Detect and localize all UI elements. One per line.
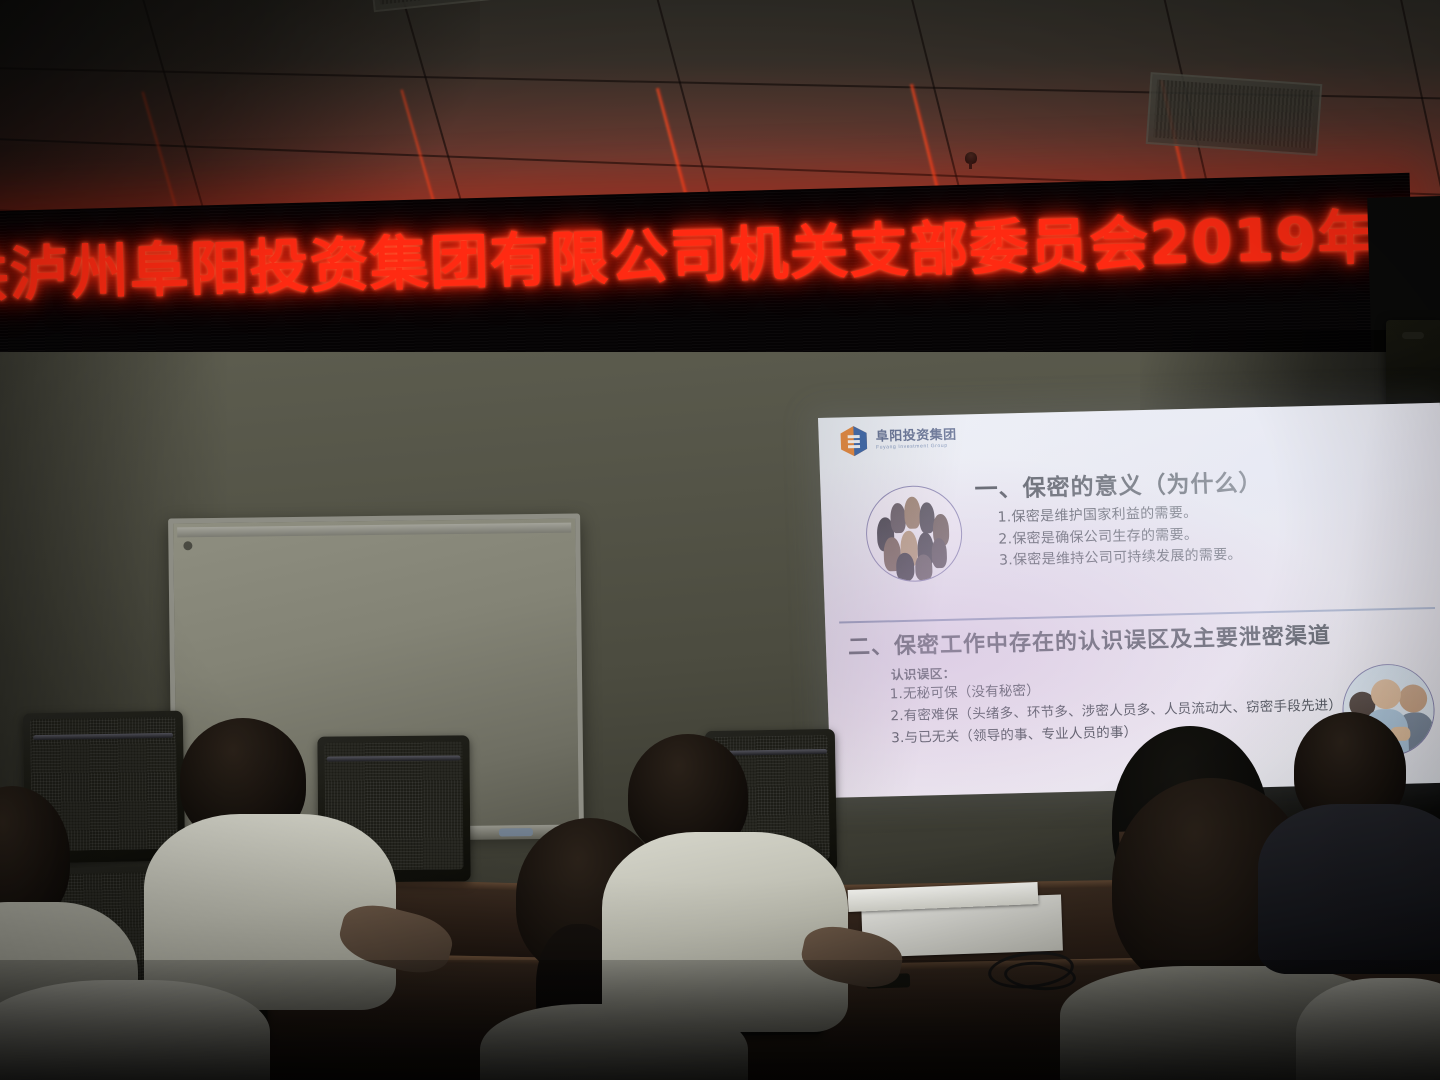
logo-name-en: Fuyang Investment Group [876, 444, 957, 451]
section-one-item-3: 3.保密是维持公司可持续发展的需要。 [999, 545, 1242, 572]
section-two-heading: 二、保密工作中存在的认识误区及主要泄密渠道 [847, 618, 1331, 662]
floor-shadow [0, 960, 1440, 1080]
meeting-room-photo: 共泸州阜阳投资集团有限公司机关支部委员会2019年6月固定党日 阜阳投资集团 F… [0, 0, 1440, 1080]
crowd-illustration [865, 486, 962, 582]
slide-section-one: 一、保密的意义（为什么） 1.保密是维护国家利益的需要。 2.保密是确保公司生存… [820, 455, 1440, 470]
logo-text: 阜阳投资集团 Fuyang Investment Group [875, 429, 957, 451]
whiteboard-rail [177, 523, 571, 538]
section-two-subheading: 认识误区： [891, 663, 956, 684]
ceiling-air-vent [1146, 72, 1323, 156]
attendee-torso [1258, 804, 1440, 974]
ceiling-sprinkler [965, 152, 977, 164]
section-one-heading: 一、保密的意义（为什么） [974, 463, 1263, 504]
whiteboard-clip [183, 541, 192, 550]
led-banner-text: 共泸州阜阳投资集团有限公司机关支部委员会2019年6月固定党日 [0, 206, 1414, 307]
shield-logo-icon [838, 425, 869, 458]
speaker-port [1402, 332, 1424, 339]
logo-name-cn: 阜阳投资集团 [875, 429, 956, 444]
section-one-items: 1.保密是维护国家利益的需要。 2.保密是确保公司生存的需要。 3.保密是维持公… [997, 502, 1242, 573]
cheering-group-photo [864, 485, 963, 583]
company-logo: 阜阳投资集团 Fuyang Investment Group [838, 423, 957, 458]
slide-section-two: 二、保密工作中存在的认识误区及主要泄密渠道 认识误区： 1.无秘可保（没有秘密）… [825, 615, 1440, 630]
seated-attendee [1264, 712, 1440, 972]
slide-divider [839, 607, 1435, 623]
